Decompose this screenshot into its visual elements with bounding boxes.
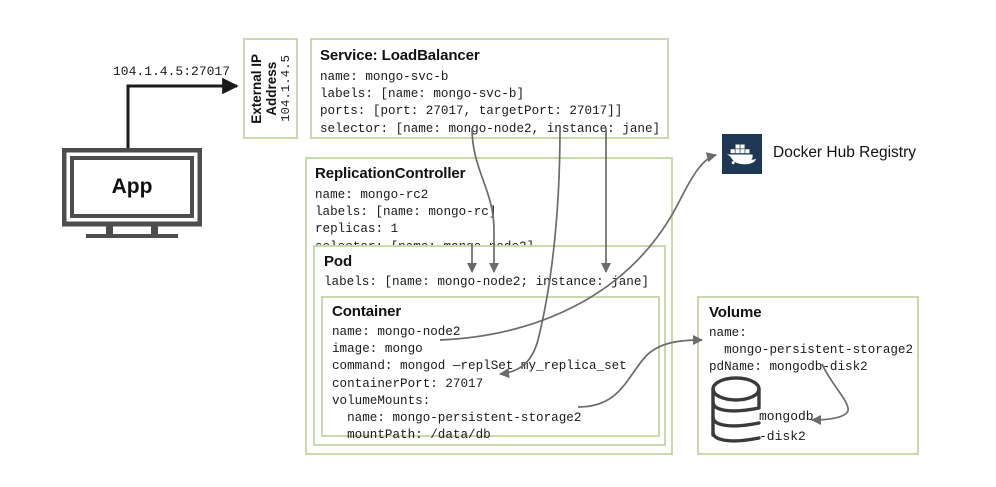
connector-arrows-layer (0, 0, 996, 487)
arrow-service-selector-name-to-pod (472, 128, 494, 272)
arrow-service-port-to-container-port (500, 128, 560, 374)
arrow-container-image-to-docker-hub (440, 155, 716, 340)
arrow-app-to-external-ip (128, 86, 237, 148)
diagram-canvas: App 104.1.4.5:27017 104.1.4.5 External I… (0, 0, 996, 487)
arrow-container-volumemount-to-volume (578, 340, 702, 407)
arrow-pdname-to-disk-icon (812, 364, 848, 420)
